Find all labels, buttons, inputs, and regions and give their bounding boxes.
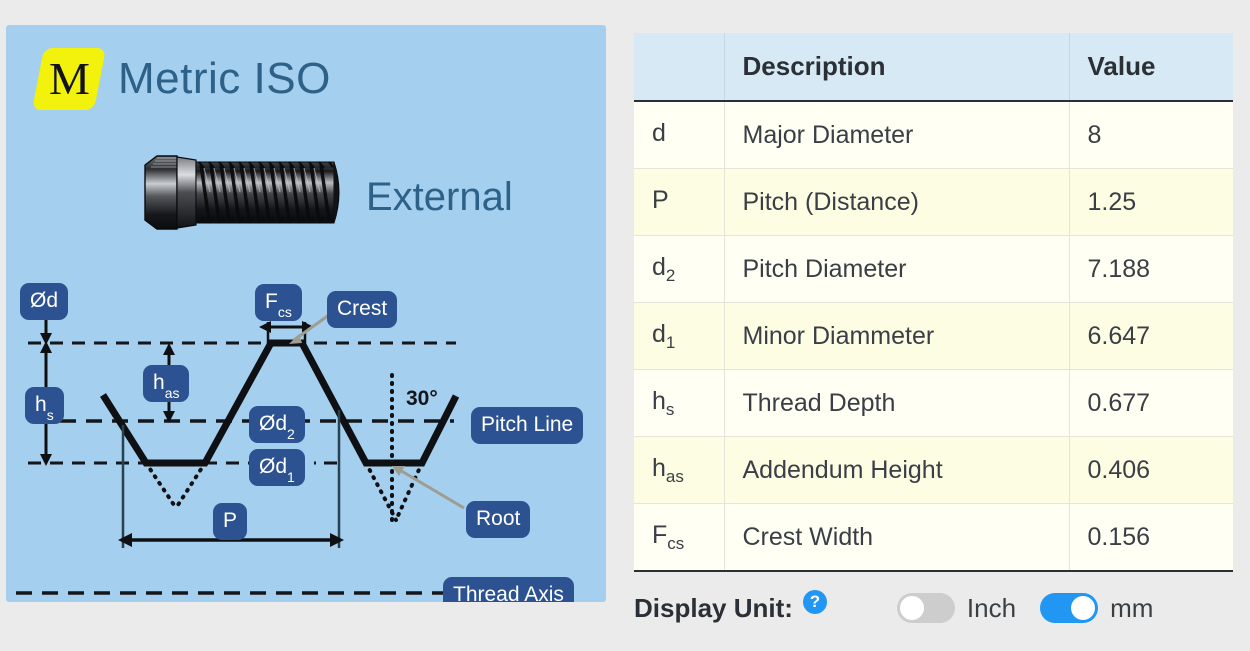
display-unit-label: Display Unit: bbox=[634, 593, 793, 624]
spec-table: Description Value d Major Diameter 8 P P… bbox=[634, 33, 1233, 572]
table-row: has Addendum Height 0.406 bbox=[634, 437, 1233, 504]
tag-root: Root bbox=[466, 501, 530, 538]
inch-toggle-knob bbox=[900, 596, 924, 620]
table-row: d1 Minor Diammeter 6.647 bbox=[634, 303, 1233, 370]
table-row: d Major Diameter 8 bbox=[634, 101, 1233, 169]
tag-minor-diameter: Ød1 bbox=[249, 449, 305, 486]
cell-symbol: hs bbox=[634, 370, 724, 437]
standard-logo-row: M Metric ISO bbox=[38, 48, 331, 110]
standard-title: Metric ISO bbox=[118, 54, 331, 104]
cell-value: 1.25 bbox=[1069, 169, 1233, 236]
cell-symbol: d2 bbox=[634, 236, 724, 303]
cell-description: Thread Depth bbox=[724, 370, 1069, 437]
mm-label: mm bbox=[1110, 593, 1153, 624]
display-unit-row: Display Unit: ? Inch mm bbox=[634, 586, 1153, 630]
tag-major-diameter: Ød bbox=[20, 283, 68, 320]
thread-type-label: External bbox=[366, 175, 513, 220]
cell-description: Addendum Height bbox=[724, 437, 1069, 504]
cell-symbol: d bbox=[634, 101, 724, 169]
cell-symbol: P bbox=[634, 169, 724, 236]
header-description: Description bbox=[724, 33, 1069, 101]
tag-crest: Crest bbox=[327, 291, 397, 328]
cell-value: 0.406 bbox=[1069, 437, 1233, 504]
cell-description: Minor Diammeter bbox=[724, 303, 1069, 370]
mm-toggle[interactable] bbox=[1040, 593, 1098, 623]
cell-value: 6.647 bbox=[1069, 303, 1233, 370]
tag-crest-width: Fcs bbox=[255, 284, 302, 321]
table-row: d2 Pitch Diameter 7.188 bbox=[634, 236, 1233, 303]
help-icon[interactable]: ? bbox=[803, 590, 827, 614]
table-row: Fcs Crest Width 0.156 bbox=[634, 504, 1233, 572]
metric-badge-icon: M bbox=[32, 48, 106, 110]
bolt-illustration bbox=[143, 151, 348, 234]
table-header-row: Description Value bbox=[634, 33, 1233, 101]
inch-label: Inch bbox=[967, 593, 1016, 624]
cell-description: Pitch (Distance) bbox=[724, 169, 1069, 236]
cell-value: 0.677 bbox=[1069, 370, 1233, 437]
mm-toggle-knob bbox=[1071, 596, 1095, 620]
header-value: Value bbox=[1069, 33, 1233, 101]
tag-pitch-diameter: Ød2 bbox=[249, 406, 305, 443]
header-symbol bbox=[634, 33, 724, 101]
cell-description: Major Diameter bbox=[724, 101, 1069, 169]
tag-addendum-height: has bbox=[143, 365, 189, 402]
metric-badge-letter: M bbox=[49, 56, 90, 102]
inch-toggle[interactable] bbox=[897, 593, 955, 623]
tag-pitch: P bbox=[213, 503, 247, 540]
thread-illustration-panel: M Metric ISO bbox=[6, 25, 606, 602]
spec-table-wrapper: Description Value d Major Diameter 8 P P… bbox=[634, 33, 1233, 572]
cell-description: Pitch Diameter bbox=[724, 236, 1069, 303]
cell-symbol: has bbox=[634, 437, 724, 504]
tag-pitch-line: Pitch Line bbox=[471, 407, 583, 444]
cell-symbol: d1 bbox=[634, 303, 724, 370]
tag-thread-depth: hs bbox=[25, 387, 64, 424]
tag-thread-axis: Thread Axis bbox=[443, 577, 574, 602]
flank-angle-label: 30° bbox=[406, 387, 438, 411]
table-row: P Pitch (Distance) 1.25 bbox=[634, 169, 1233, 236]
cell-value: 0.156 bbox=[1069, 504, 1233, 572]
cell-symbol: Fcs bbox=[634, 504, 724, 572]
cell-description: Crest Width bbox=[724, 504, 1069, 572]
thread-spec-page: M Metric ISO bbox=[0, 0, 1250, 651]
table-row: hs Thread Depth 0.677 bbox=[634, 370, 1233, 437]
cell-value: 7.188 bbox=[1069, 236, 1233, 303]
cell-value: 8 bbox=[1069, 101, 1233, 169]
